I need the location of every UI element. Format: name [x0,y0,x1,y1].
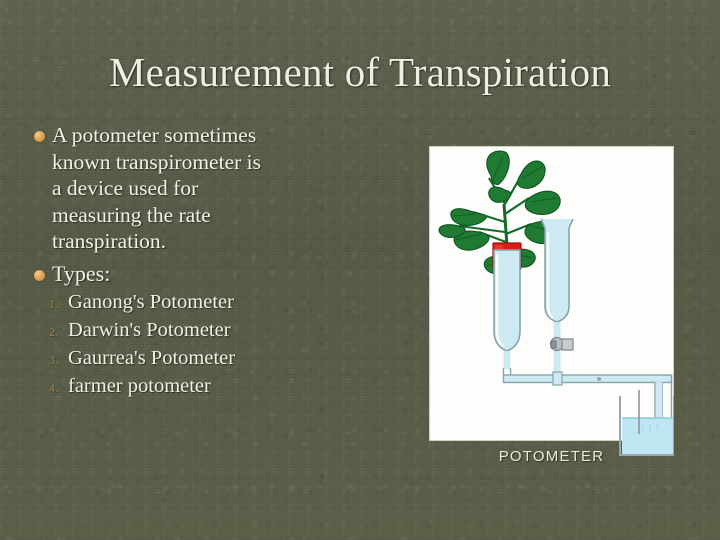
figure-caption: POTOMETER [429,448,674,465]
bullet-line: transpiration. [52,228,261,255]
bullet-dot-icon [34,131,45,142]
list-item-number: 4. [34,381,60,396]
potometer-figure [429,146,674,441]
list-item: 3. Gaurrea's Potometer [34,345,406,372]
content-column: A potometer sometimes known transpiromet… [34,122,406,401]
plant-tube-icon [494,250,520,369]
bullet-dot-icon [34,270,45,281]
bullet-line: a device used for [52,175,261,202]
list-item: 1. Ganong's Potometer [34,289,406,316]
list-item: 4. farmer potometer [34,373,406,400]
list-item-label: farmer potometer [60,373,211,400]
list-item-number: 2. [34,325,60,340]
potometer-type-list: 1. Ganong's Potometer 2. Darwin's Potome… [34,289,406,400]
bullet-item-types: Types: [34,261,406,288]
potometer-diagram-icon [429,146,674,466]
bullet-line: known transpirometer is [52,149,261,176]
types-label: Types: [52,261,110,288]
list-item-label: Darwin's Potometer [60,317,231,344]
list-item-label: Gaurrea's Potometer [60,345,235,372]
list-item: 2. Darwin's Potometer [34,317,406,344]
bullet-item-definition: A potometer sometimes known transpiromet… [34,122,406,255]
slide-background: Measurement of Transpiration A potometer… [0,0,720,540]
list-item-number: 1. [34,297,60,312]
list-item-label: Ganong's Potometer [60,289,234,316]
stopcock-tap-icon [551,338,574,351]
bullet-line: measuring the rate [52,202,261,229]
bullet-definition-text: A potometer sometimes known transpiromet… [52,122,261,255]
list-item-number: 3. [34,353,60,368]
page-title: Measurement of Transpiration [0,48,720,96]
bullet-line: A potometer sometimes [52,122,261,149]
water-beaker-icon [620,390,674,455]
